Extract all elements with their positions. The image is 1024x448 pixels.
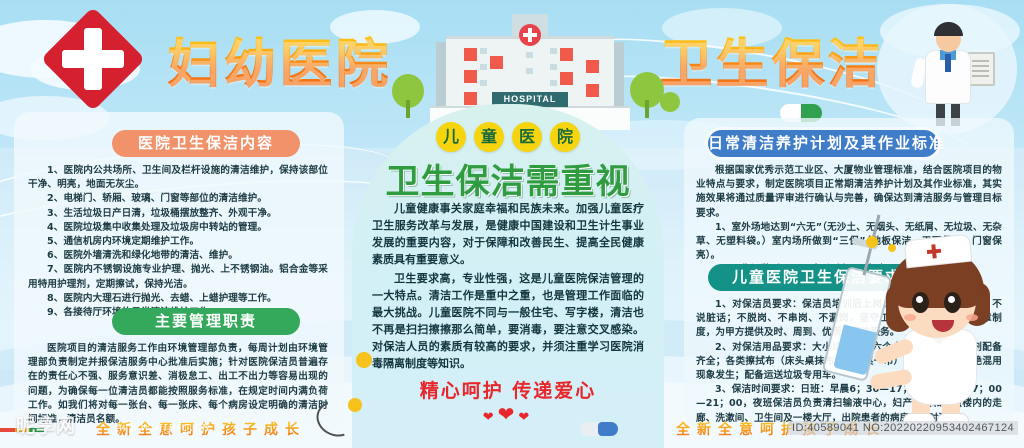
badge-char: 童 bbox=[474, 122, 504, 152]
doctor-illustration bbox=[905, 14, 991, 126]
tree-trunk bbox=[645, 100, 649, 118]
list-item: 6、医院外墙清洗和绿化地带的清洁、维护。 bbox=[28, 249, 328, 263]
footer-bar: 全新全意呵护孩子成长 全新全意呵护孩子成长 昵享网 www.nipic.cn I… bbox=[0, 408, 1024, 448]
watermark-site: 昵享网 bbox=[16, 411, 76, 438]
center-title: 卫生保洁需重视 bbox=[352, 154, 664, 203]
badge-char: 儿 bbox=[436, 122, 466, 152]
left-section2-heading: 主要管理职责 bbox=[112, 308, 300, 335]
dot-decoration bbox=[356, 352, 372, 368]
left-section1-body: 1、医院内公共场所、卫生间及栏杆设施的清洁维护，保持该部位干净、明亮，地面无灰尘… bbox=[28, 164, 328, 320]
page-title-left: 妇幼医院 bbox=[168, 22, 392, 97]
list-item: 3、生活垃圾日产日清，垃圾桶摆放整齐、外观干净。 bbox=[28, 207, 328, 221]
nurse-illustration bbox=[846, 236, 1016, 426]
list-item: 5、通信机房内环境定期维护工作。 bbox=[28, 235, 328, 249]
list-item: 4、医院垃圾集中收集处理及垃圾房中转站的管理。 bbox=[28, 221, 328, 235]
red-cross-logo-icon bbox=[56, 22, 130, 96]
badge-char: 院 bbox=[550, 122, 580, 152]
badge-char: 医 bbox=[512, 122, 542, 152]
list-item: 1、医院内公共场所、卫生间及栏杆设施的清洁维护，保持该部位干净、明亮，地面无灰尘… bbox=[28, 164, 328, 192]
center-badge-row: 儿 童 医 院 bbox=[382, 122, 634, 152]
right-section1-heading: 日常清洁养护计划及其作业标准 bbox=[708, 130, 938, 157]
dot-decoration bbox=[888, 244, 896, 252]
center-slogan: 精心呵护 传递爱心 bbox=[352, 376, 664, 403]
dot-decoration bbox=[866, 236, 878, 248]
clipboard-icon bbox=[967, 52, 995, 86]
center-body: 儿童健康事关家庭幸福和民族未来。加强儿童医疗卫生服务改革与发展，是健康中国建设和… bbox=[372, 200, 644, 374]
watermark-url: www.nipic.cn bbox=[118, 419, 211, 436]
paragraph: 根据国家优秀示范工业区、大厦物业管理标准，结合医院项目的物业特点与要求，制定医院… bbox=[696, 164, 1002, 221]
page-title-right: 卫生保洁 bbox=[660, 22, 884, 97]
paragraph: 儿童健康事关家庭幸福和民族未来。加强儿童医疗卫生服务改革与发展，是健康中国建设和… bbox=[372, 200, 644, 268]
left-section1-heading: 医院卫生保洁内容 bbox=[112, 130, 300, 157]
tree-icon bbox=[660, 92, 680, 112]
watermark-id: ID:40589041 NO:20220220953402467124 bbox=[788, 421, 1018, 435]
paragraph: 卫生要求高，专业性强，这是儿童医院保洁管理的一大特点。清洁工作是重中之重，也是管… bbox=[372, 270, 644, 372]
list-item: 7、医院内不锈钢设施专业护理、抛光、上不锈钢油。铝合金等采用特用护理剂，定期擦试… bbox=[28, 263, 328, 291]
tree-trunk bbox=[406, 100, 410, 118]
building-cross-icon bbox=[519, 24, 541, 46]
poster-canvas: 妇幼医院 卫生保洁 HOSPITAL bbox=[0, 0, 1024, 448]
list-item: 8、医院内大理石进行抛光、去蜡、上蜡护理等工作。 bbox=[28, 292, 328, 306]
list-item: 2、电梯门、轿厢、玻璃、门窗等部位的清洁维护。 bbox=[28, 192, 328, 206]
